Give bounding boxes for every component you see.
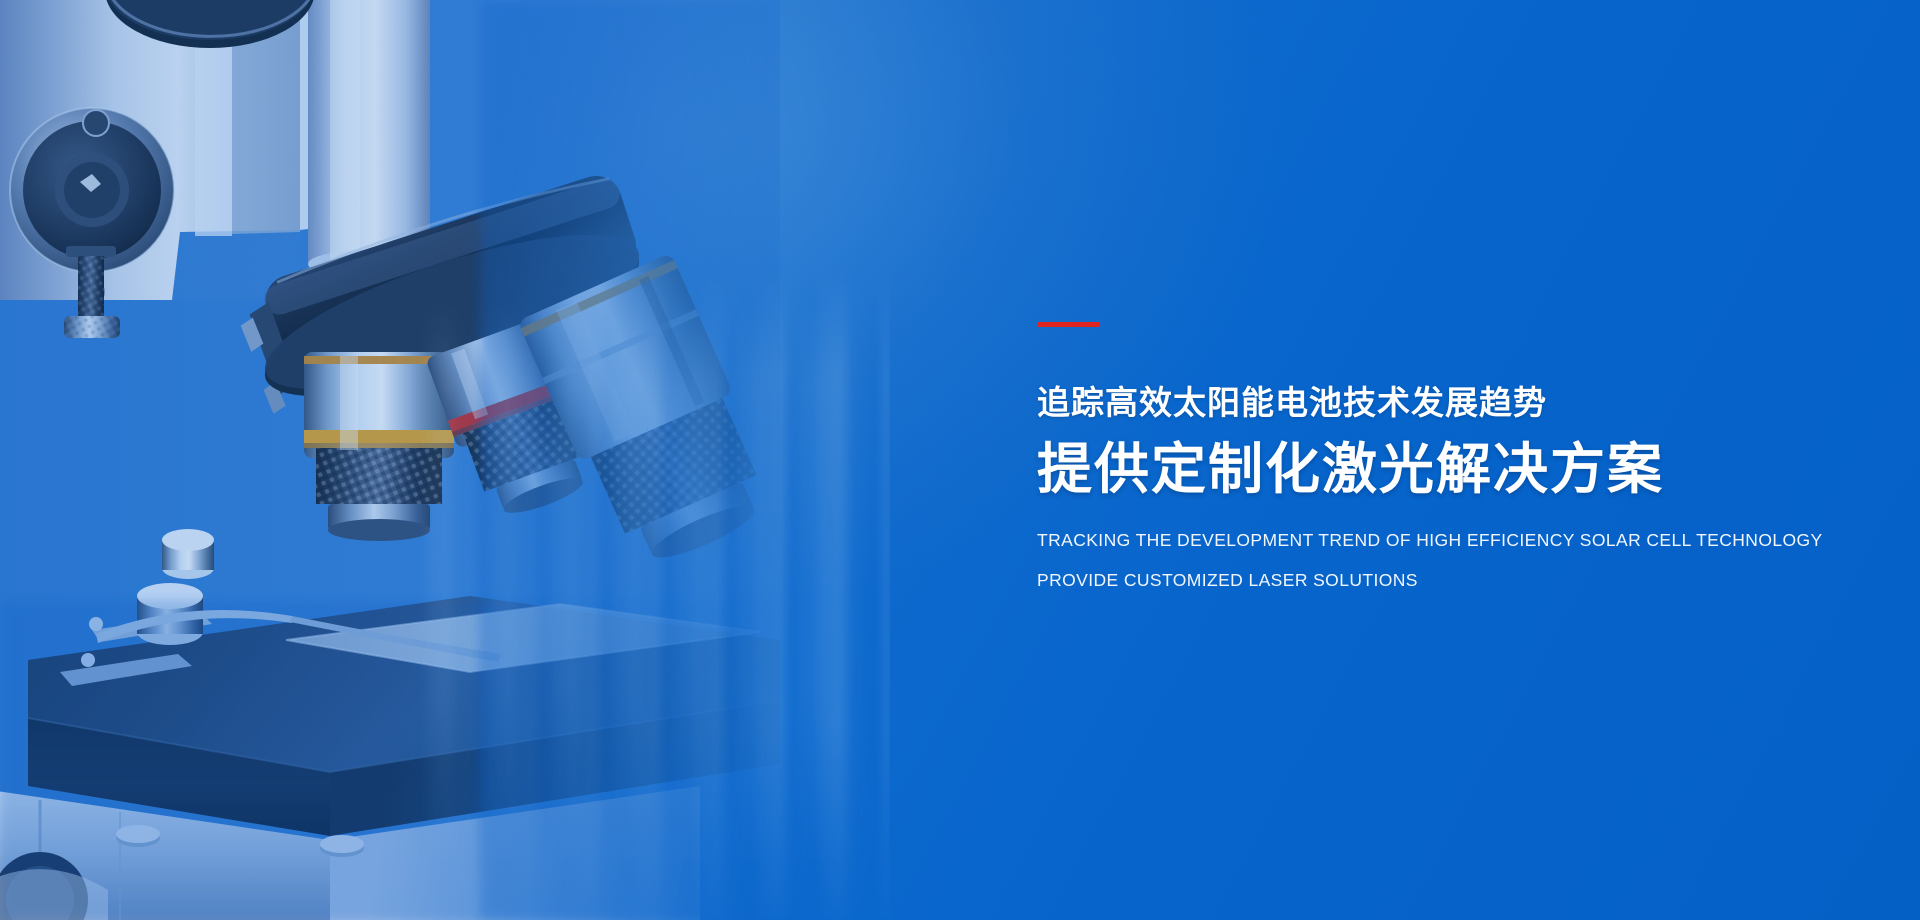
hero-copy: 追踪高效太阳能电池技术发展趋势 提供定制化激光解决方案 TRACKING THE… bbox=[1037, 322, 1857, 589]
subtitle-line-1: TRACKING THE DEVELOPMENT TREND OF HIGH E… bbox=[1037, 532, 1857, 550]
subtitle-line-2: PROVIDE CUSTOMIZED LASER SOLUTIONS bbox=[1037, 572, 1857, 590]
red-accent-rule bbox=[1037, 322, 1099, 327]
background-light-streaks-overlay bbox=[420, 300, 840, 860]
headline-primary: 追踪高效太阳能电池技术发展趋势 bbox=[1037, 385, 1857, 421]
headline-secondary: 提供定制化激光解决方案 bbox=[1037, 437, 1857, 502]
hero-banner: 追踪高效太阳能电池技术发展趋势 提供定制化激光解决方案 TRACKING THE… bbox=[0, 0, 1920, 920]
